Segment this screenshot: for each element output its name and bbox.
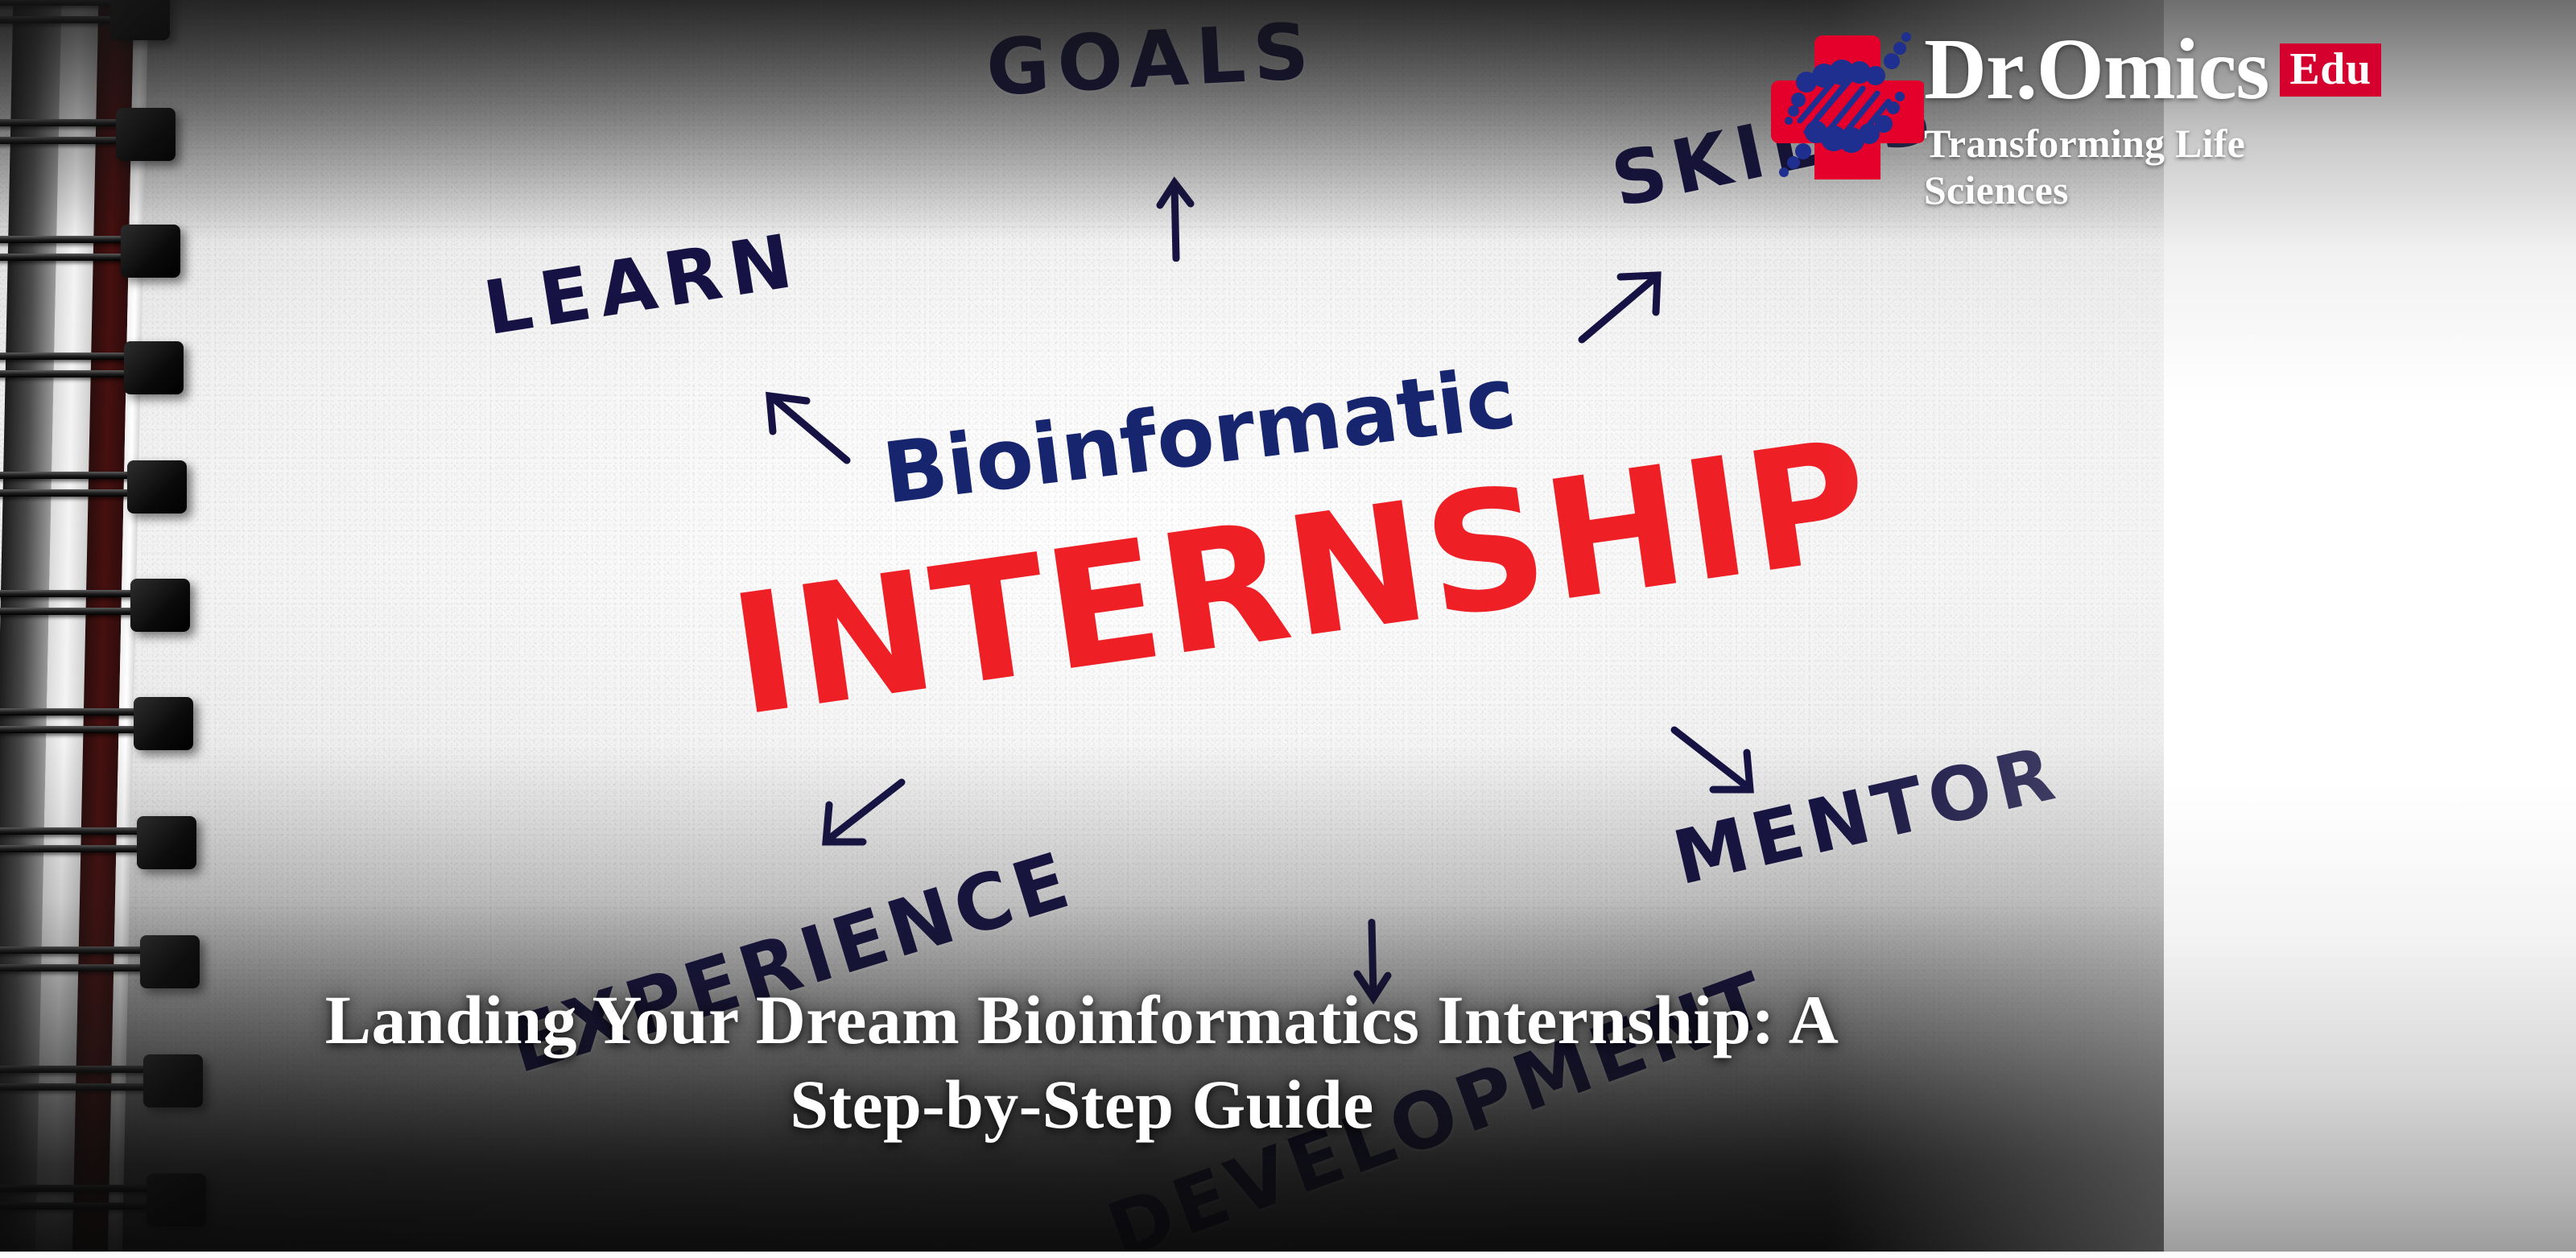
page-title-line1: Landing Your Dream Bioinformatics Intern… <box>325 981 1839 1058</box>
brand-logo[interactable]: Dr.Omics Edu Transforming Life Sciences <box>1771 24 2367 209</box>
arrow-up-right-to-skills-icon <box>1574 266 1670 346</box>
page-title-line2: Step-by-Step Guide <box>0 1062 2164 1147</box>
brand-name: Dr.Omics <box>1924 24 2268 115</box>
bottom-edge-strip <box>0 1252 2576 1258</box>
hero-banner: GOALS LEARN SKILLS MENTOR EXPERIENCE DEV… <box>0 0 2576 1258</box>
brand-text: Dr.Omics Edu Transforming Life Sciences <box>1924 24 2375 213</box>
brand-badge-edu: Edu <box>2280 43 2380 97</box>
medical-cross-dna-icon <box>1771 31 1924 179</box>
page-title: Landing Your Dream Bioinformatics Intern… <box>0 978 2164 1147</box>
brand-tagline: Transforming Life Sciences <box>1924 120 2375 213</box>
arrow-up-left-to-learn-icon <box>757 386 853 467</box>
